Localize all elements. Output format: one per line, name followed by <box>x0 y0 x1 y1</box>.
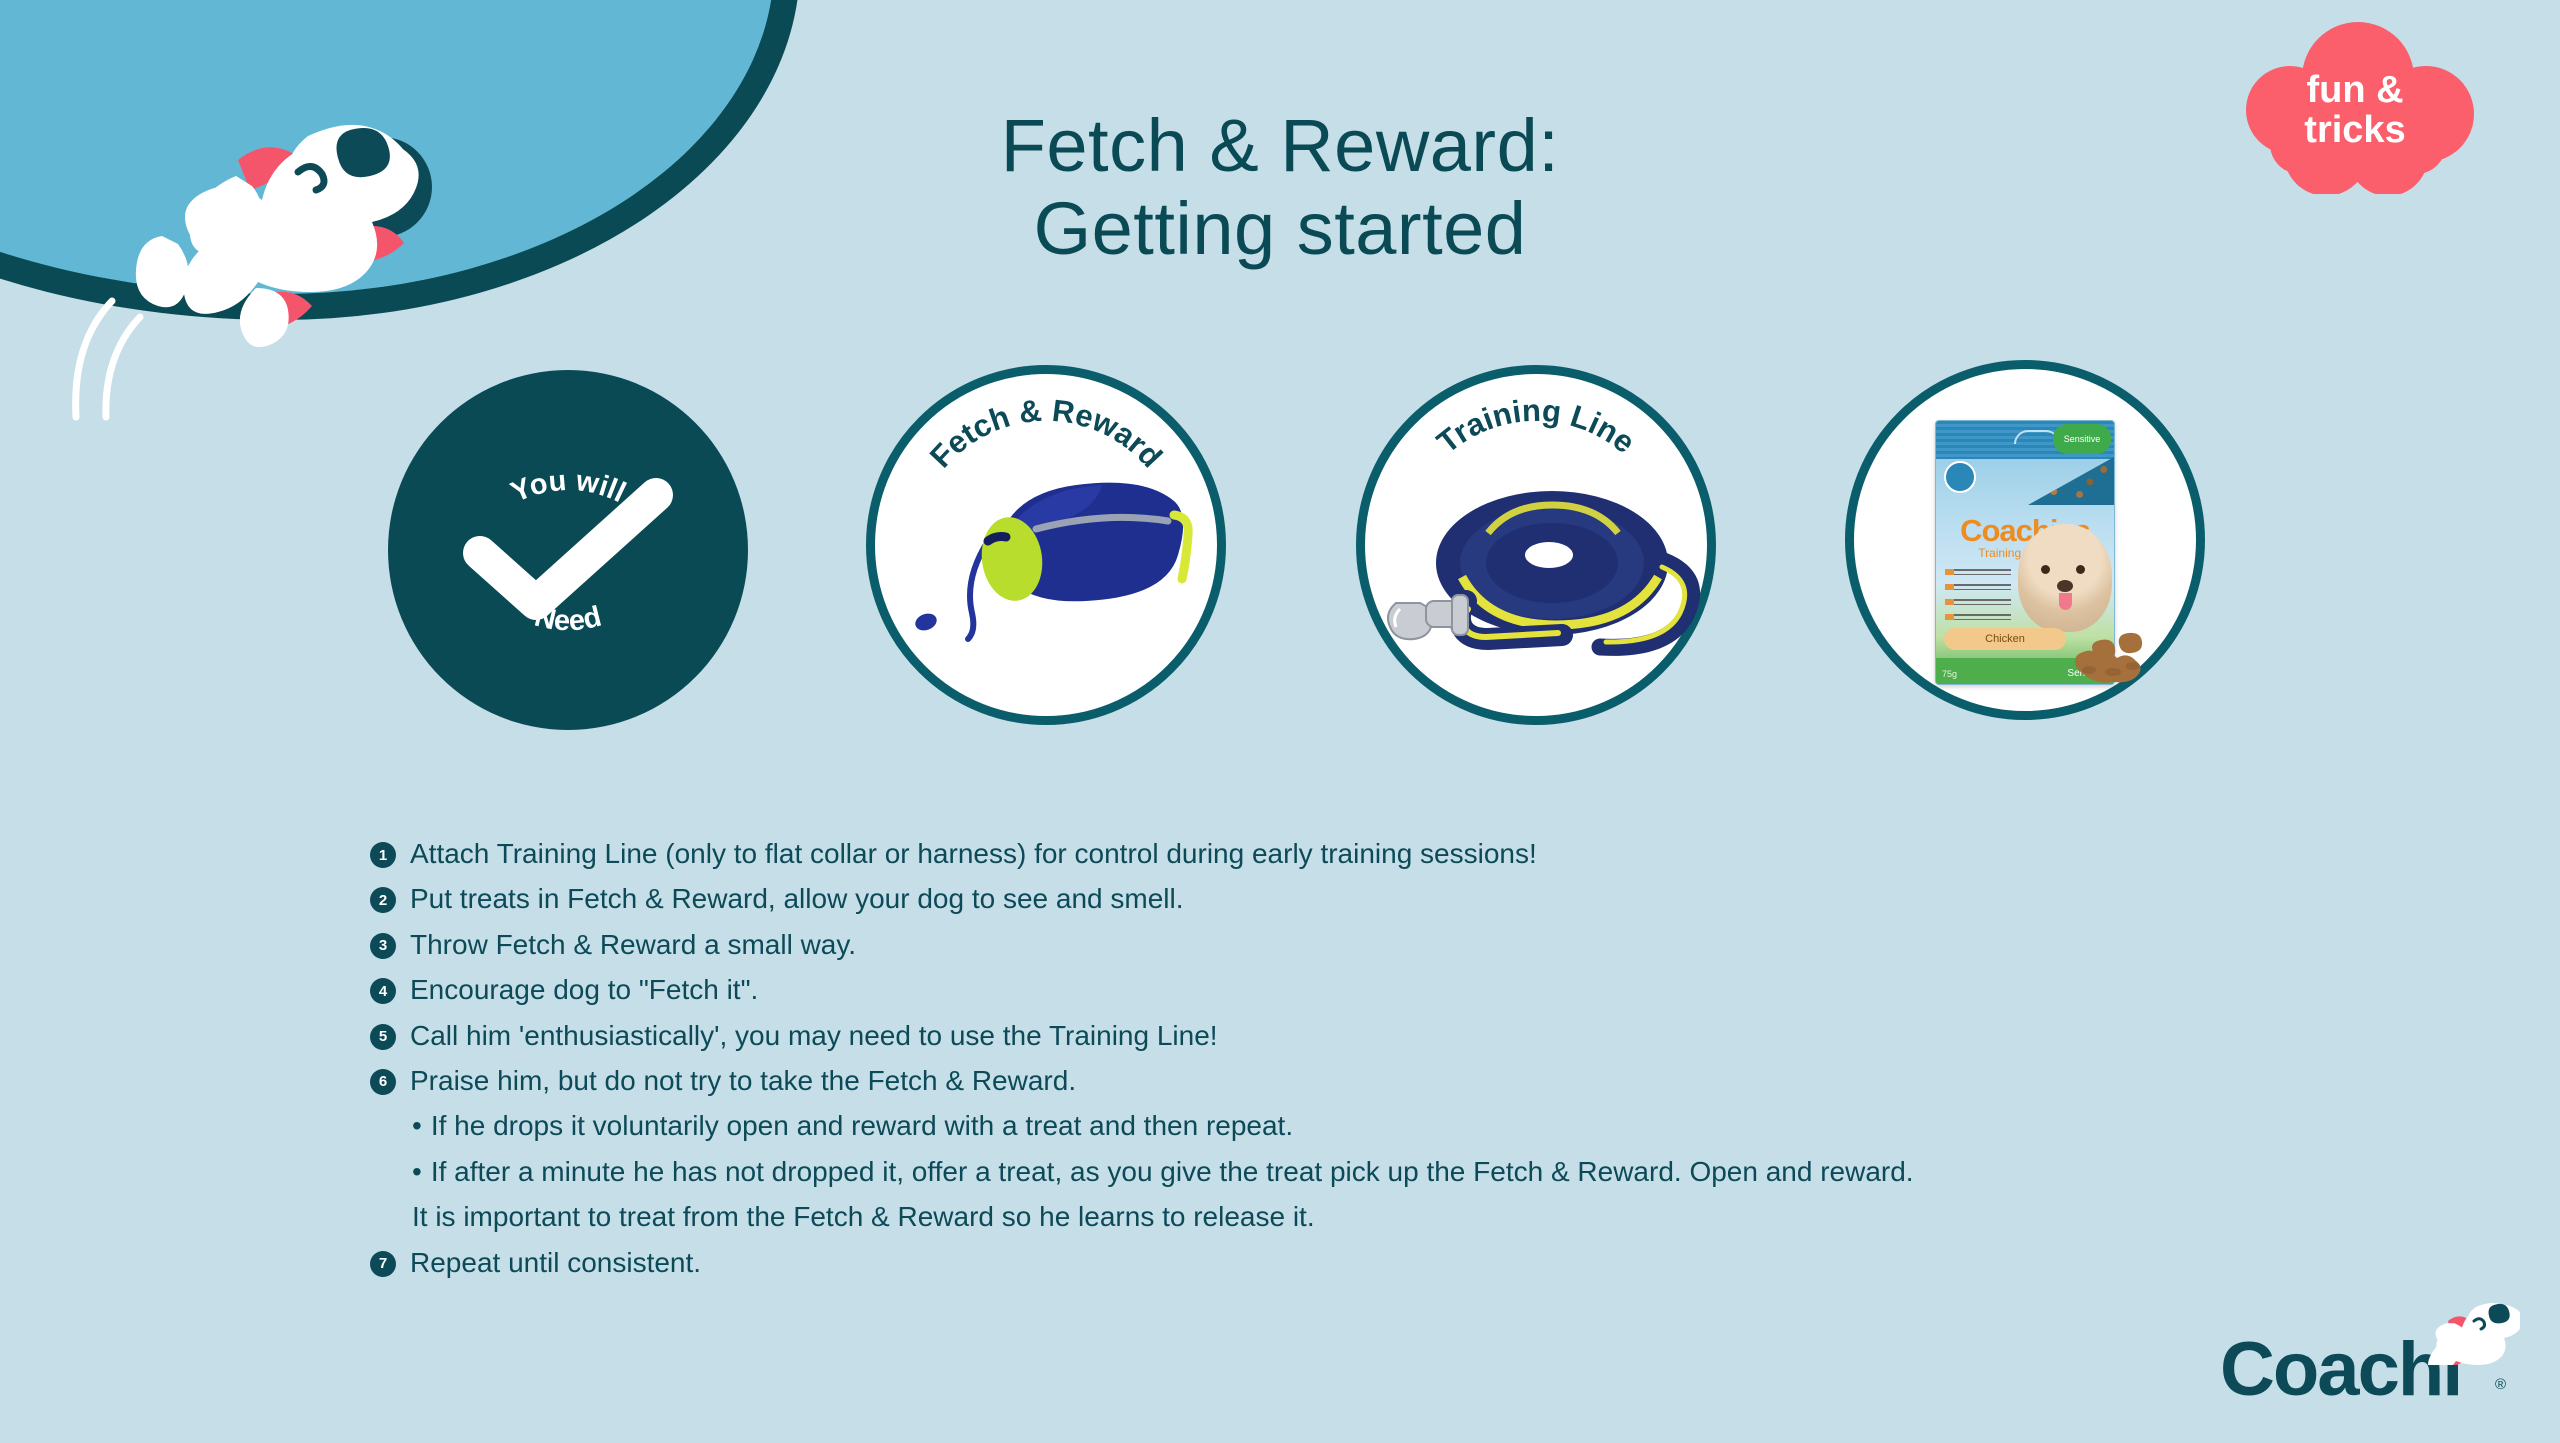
step-number-badge: 4 <box>370 978 396 1004</box>
fun-and-tricks-badge: fun & tricks <box>2230 22 2480 194</box>
step-number-badge: 3 <box>370 933 396 959</box>
bullet-icon: • <box>412 1108 422 1144</box>
step-sub-item: • If he drops it voluntarily open and re… <box>370 1108 2490 1144</box>
steps-list: 1 Attach Training Line (only to flat col… <box>370 836 2490 1290</box>
step-text: Put treats in Fetch & Reward, allow your… <box>410 881 1184 917</box>
step-text: Encourage dog to "Fetch it". <box>410 972 758 1008</box>
coiled-leash-icon <box>1356 365 1716 725</box>
treat-pieces-icon <box>2067 624 2159 686</box>
needs-item-fetch-and-reward[interactable]: Fetch & Reward <box>866 365 1226 725</box>
step-text: Throw Fetch & Reward a small way. <box>410 927 856 963</box>
packet-seal-icon <box>1944 461 1976 493</box>
bullet-icon: • <box>412 1154 422 1190</box>
packet-variant-top: Sensitive <box>2053 424 2111 454</box>
step-text: Praise him, but do not try to take the F… <box>410 1063 1076 1099</box>
step-number-badge: 5 <box>370 1024 396 1050</box>
step-row: 3 Throw Fetch & Reward a small way. <box>370 927 2490 963</box>
step-number-badge: 7 <box>370 1251 396 1277</box>
step-number-badge: 1 <box>370 842 396 868</box>
step-row: 6 Praise him, but do not try to take the… <box>370 1063 2490 1099</box>
needs-row: You will Need Fetch & R <box>0 360 2560 760</box>
step-text: Attach Training Line (only to flat colla… <box>410 836 1537 872</box>
step-number-badge: 6 <box>370 1069 396 1095</box>
needs-item-treats[interactable]: Treats Sensitive Coachies Training Rewar… <box>1845 360 2205 720</box>
badge-line-2: tricks <box>2304 110 2405 150</box>
step-row: 2 Put treats in Fetch & Reward, allow yo… <box>370 881 2490 917</box>
step-sub-item: • If after a minute he has not dropped i… <box>370 1154 2490 1190</box>
packet-flavour: Chicken <box>1944 628 2066 650</box>
packet-feature-list <box>1945 569 2011 629</box>
step-row: 4 Encourage dog to "Fetch it". <box>370 972 2490 1008</box>
badge-line-1: fun & <box>2306 70 2403 110</box>
step-sub-text: If after a minute he has not dropped it,… <box>431 1154 1914 1190</box>
step-sub-text: If he drops it voluntarily open and rewa… <box>431 1108 1293 1144</box>
page-title-line-1: Fetch & Reward: <box>760 105 1800 188</box>
packet-dog-photo <box>2018 524 2112 632</box>
packet-weight: 75g <box>1942 669 1957 679</box>
step-text: Call him 'enthusiastically', you may nee… <box>410 1018 1218 1054</box>
step-number-badge: 2 <box>370 887 396 913</box>
step-continuation: It is important to treat from the Fetch … <box>370 1199 2490 1235</box>
poster-canvas: Fetch & Reward: Getting started fun & tr… <box>0 0 2560 1443</box>
needs-item-you-will-need[interactable]: You will Need <box>388 370 748 730</box>
dog-nose-icon <box>2057 580 2073 592</box>
step-row: 7 Repeat until consistent. <box>370 1245 2490 1281</box>
step-row: 1 Attach Training Line (only to flat col… <box>370 836 2490 872</box>
coachi-logo[interactable]: Coachi ® <box>2220 1291 2520 1421</box>
step-continuation-text: It is important to treat from the Fetch … <box>412 1199 2490 1235</box>
dog-tongue-icon <box>2059 593 2072 610</box>
coachi-dog-icon <box>2424 1291 2520 1365</box>
packet-kibble-photo <box>2028 457 2114 505</box>
registered-trademark: ® <box>2495 1376 2506 1393</box>
page-title: Fetch & Reward: Getting started <box>760 105 1800 271</box>
needs-item-training-line[interactable]: Training Line <box>1356 365 1716 725</box>
page-title-line-2: Getting started <box>760 188 1800 271</box>
step-text: Repeat until consistent. <box>410 1245 701 1281</box>
treat-pouch-icon <box>866 365 1226 725</box>
step-row: 5 Call him 'enthusiastically', you may n… <box>370 1018 2490 1054</box>
check-icon <box>458 475 678 625</box>
